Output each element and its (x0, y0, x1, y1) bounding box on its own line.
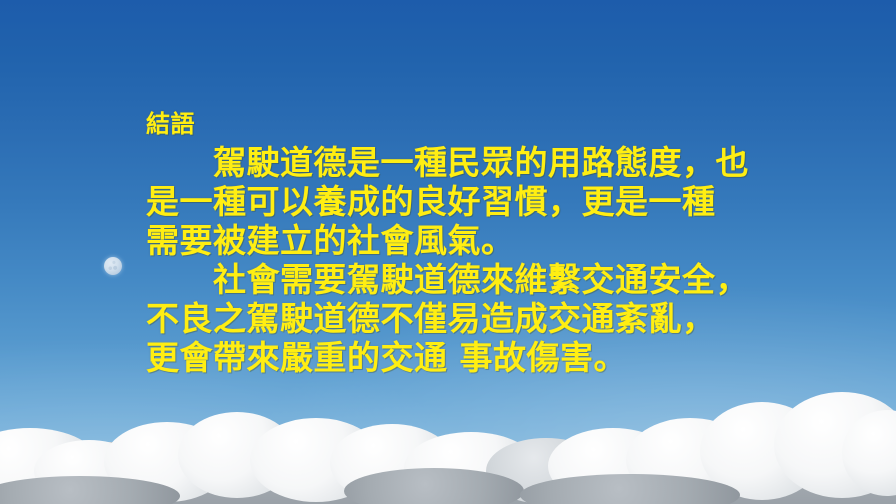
slide-text-line: 駕駛道德是一種民眾的用路態度，也 (146, 143, 862, 182)
slide-text-line: 是一種可以養成的良好習慣，更是一種 (146, 182, 862, 221)
slide-text-body: 結語 駕駛道德是一種民眾的用路態度，也 是一種可以養成的良好習慣，更是一種 需要… (146, 108, 862, 377)
slide-text-line: 社會需要駕駛道德來維繫交通安全， (146, 260, 862, 299)
presentation-slide: 結語 駕駛道德是一種民眾的用路態度，也 是一種可以養成的良好習慣，更是一種 需要… (0, 0, 896, 504)
slide-text-line: 需要被建立的社會風氣。 (146, 221, 862, 260)
slide-text-line: 更會帶來嚴重的交通 事故傷害。 (146, 338, 862, 377)
slide-heading: 結語 (146, 108, 862, 140)
cloud-bank (0, 384, 896, 504)
slide-text-line: 不良之駕駛道德不僅易造成交通紊亂， (146, 299, 862, 338)
moon-icon (104, 257, 122, 275)
